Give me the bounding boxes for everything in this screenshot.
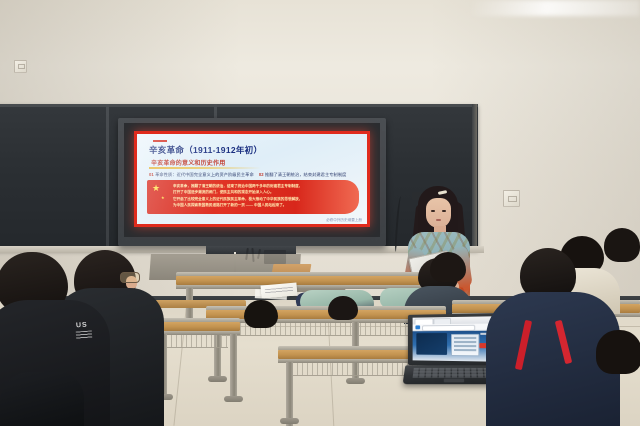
student-head — [604, 228, 640, 262]
slide-title-main: 辛亥革命 — [149, 145, 184, 155]
slide-tick-mark — [153, 140, 167, 142]
star-icon: ★ — [152, 184, 160, 193]
slide-section-text-01: 革命性质：近代中国完全意义上的资产阶级民主革命 — [155, 172, 254, 177]
desk-foot — [224, 396, 243, 402]
slide-title: 辛亥革命（1911-1912年初） — [149, 144, 359, 156]
student-head — [244, 300, 278, 328]
interactive-display[interactable]: 辛亥革命（1911-1912年初） 辛亥革命的意义和历史作用 01 革命性质：近… — [118, 118, 386, 246]
classroom-photo: 辛亥革命（1911-1912年初） 辛亥革命的意义和历史作用 01 革命性质：近… — [0, 0, 640, 426]
desk-top — [176, 276, 426, 285]
url-input[interactable] — [422, 325, 475, 331]
eyeglasses-icon — [120, 272, 140, 283]
desk-basket — [292, 363, 422, 376]
student-head — [430, 252, 466, 282]
browser-address-bar[interactable] — [413, 323, 496, 331]
slide-title-range: （1911-1912年初） — [184, 145, 262, 155]
slide-subtitle-underline — [149, 167, 261, 169]
callout-line: 为中国人民探索救国救民道路打开了新的一页 —— 中国人民站起来了。 — [173, 202, 355, 208]
jacket-logo: US — [76, 322, 88, 330]
student-head — [328, 296, 358, 320]
laptop-trackpad[interactable] — [444, 379, 464, 383]
page-info-card — [451, 334, 479, 356]
desk-foot — [208, 376, 227, 382]
desk-leg — [230, 334, 237, 398]
student-head — [596, 330, 640, 374]
presentation-slide: 辛亥革命（1911-1912年初） 辛亥革命的意义和历史作用 01 革命性质：近… — [134, 131, 370, 227]
slide-watermark: 必修中外历史纲要上册 — [326, 218, 362, 223]
wall-socket-plate-right[interactable] — [503, 190, 520, 207]
desk-foot — [280, 418, 299, 424]
slide-page: 辛亥革命（1911-1912年初） 辛亥革命的意义和历史作用 01 革命性质：近… — [137, 134, 367, 224]
slide-callout-text: 辛亥革命，推翻了清王朝的统治，结束了统治中国两千多年的封建君主专制制度， 打开了… — [173, 183, 355, 208]
presenter-mouth — [436, 219, 441, 221]
wall-switch-plate-left[interactable] — [14, 60, 27, 73]
ceiling-light-reflection — [470, 0, 640, 16]
desk-leg — [286, 362, 293, 426]
slide-callout-box: ★ ★ 辛亥革命，推翻了清王朝的统治，结束了统治中国两千多年的封建君主专制制度，… — [147, 180, 359, 214]
presenter-face — [426, 198, 451, 228]
favicon-icon — [415, 325, 420, 329]
page-hero-image — [416, 333, 447, 355]
laptop-screen[interactable] — [413, 316, 496, 361]
slide-section-text-02: 推翻了清王朝统治，结束封建君主专制制度 — [265, 172, 346, 177]
laptop-keys[interactable] — [413, 368, 498, 378]
star-small-icon: ★ — [161, 193, 165, 202]
presenter-eye-left — [431, 210, 435, 212]
display-panel: 辛亥革命（1911-1912年初） 辛亥革命的意义和历史作用 01 革命性质：近… — [124, 123, 380, 237]
presenter-eye-right — [442, 210, 446, 212]
slide-section-label-02: 02 — [259, 172, 264, 177]
blackboard-seam — [106, 104, 109, 250]
desk-foot — [346, 378, 365, 384]
jacket-logo-subtext — [76, 330, 93, 339]
slide-section-row: 01 革命性质：近代中国完全意义上的资产阶级民主革命 02 推翻了清王朝统治，结… — [149, 172, 359, 178]
slide-subtitle: 辛亥革命的意义和历史作用 — [151, 158, 225, 167]
student-torso-foreground — [0, 372, 84, 426]
slide-section-label-01: 01 — [149, 172, 154, 177]
